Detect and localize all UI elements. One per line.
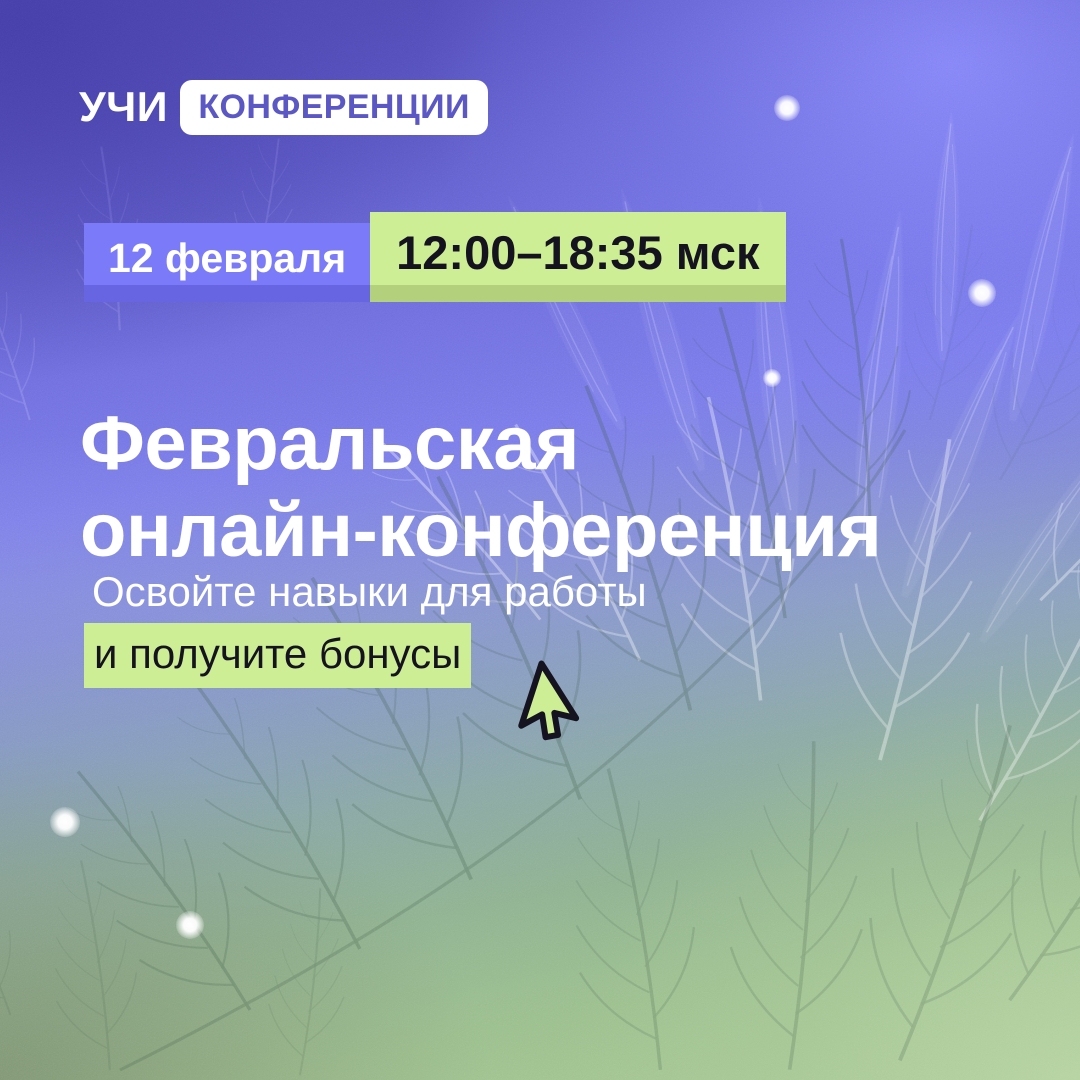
date-badge-label: 12 февраля xyxy=(108,238,346,279)
headline-line-2: онлайн-конференция xyxy=(80,488,881,575)
brand-logo[interactable]: УЧИ КОНФЕРЕНЦИИ xyxy=(79,82,488,132)
time-badge-label: 12:00–18:35 мск xyxy=(396,229,759,276)
subtitle-line-2-highlight: и получите бонусы xyxy=(84,623,471,687)
brand-wordmark: УЧИ xyxy=(79,86,168,128)
date-badge-band xyxy=(84,285,370,302)
subtitle-line-2-wrap: и получите бонусы xyxy=(84,623,647,687)
brand-pill-label: КОНФЕРЕНЦИИ xyxy=(180,80,487,135)
time-badge: 12:00–18:35 мск xyxy=(370,212,785,302)
event-badges: 12 февраля 12:00–18:35 мск xyxy=(84,212,786,302)
page-title: Февральская онлайн-конференция xyxy=(80,401,881,574)
time-badge-band xyxy=(370,285,785,302)
subtitle: Освойте навыки для работы и получите бон… xyxy=(84,564,647,688)
promo-poster: УЧИ КОНФЕРЕНЦИИ 12 февраля 12:00–18:35 м… xyxy=(0,0,1080,1080)
date-badge: 12 февраля xyxy=(84,223,370,302)
subtitle-line-1: Освойте навыки для работы xyxy=(84,564,647,619)
headline-line-1: Февральская xyxy=(80,401,881,488)
